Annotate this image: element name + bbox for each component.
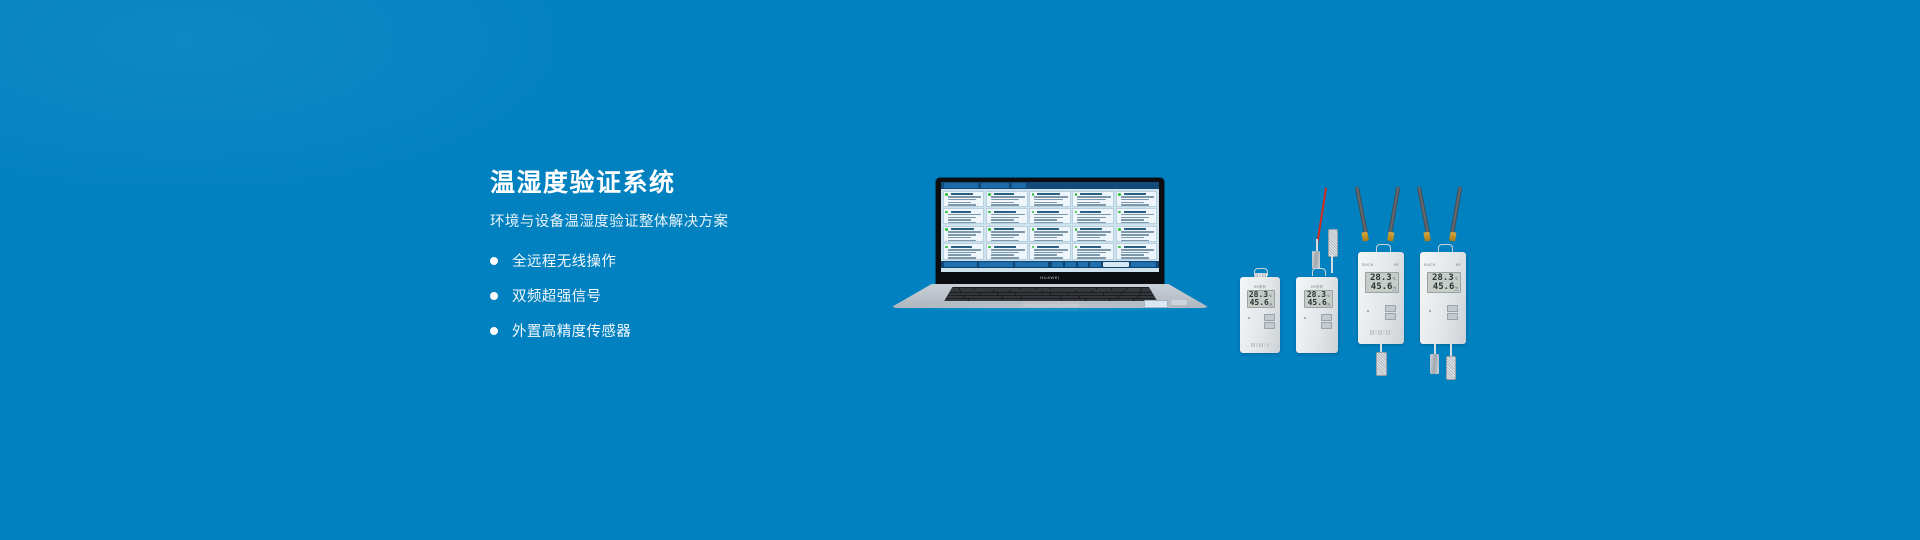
- pager-prev[interactable]: [1065, 262, 1076, 267]
- footer-button-print[interactable]: [1015, 262, 1048, 267]
- indicator-led-icon: [1248, 317, 1250, 319]
- lcd-display: 28.3 ℃ 45.6 %: [1365, 272, 1399, 293]
- lcd-humidity-unit: %: [1393, 286, 1396, 290]
- sensor-card[interactable]: [1029, 191, 1071, 207]
- status-led-icon: [1075, 228, 1078, 231]
- keyboard-row: [945, 290, 1157, 292]
- feature-item-2: 双频超强信号: [490, 285, 920, 306]
- sensor-card[interactable]: [1072, 226, 1114, 242]
- device-button-down[interactable]: [1447, 313, 1458, 320]
- hero-copy: 温湿度验证系统 环境与设备温湿度验证整体解决方案 全远程无线操作 双频超强信号 …: [490, 168, 920, 355]
- device-button-down[interactable]: [1385, 313, 1396, 320]
- lcd-temperature-unit: ℃: [1392, 277, 1396, 281]
- status-led-icon: [988, 246, 991, 249]
- sensor-card[interactable]: [986, 191, 1028, 207]
- probe-connector: [1312, 251, 1320, 269]
- keyboard-row: [945, 296, 1157, 298]
- indicator-led-icon: [1367, 310, 1369, 312]
- laptop-bezel-bottom: HUAWEI: [941, 272, 1159, 282]
- lcd-humidity-value: 45.6: [1250, 299, 1269, 307]
- device-button-up[interactable]: [1321, 314, 1332, 321]
- sensor-card[interactable]: [1072, 208, 1114, 224]
- keyboard-row: [945, 288, 1157, 290]
- sensor-card[interactable]: [943, 191, 985, 207]
- status-led-icon: [945, 211, 948, 214]
- status-led-icon: [1075, 246, 1078, 249]
- lcd-display: 28.3 ℃ 45.6 %: [1247, 290, 1275, 308]
- dashboard-tab-history[interactable]: [981, 183, 1009, 188]
- status-led-icon: [1118, 211, 1121, 214]
- feature-item-1: 全远程无线操作: [490, 250, 920, 271]
- footer-button-settings[interactable]: [1131, 262, 1156, 267]
- device-label-right: HE: [1394, 263, 1399, 267]
- pager-last[interactable]: [1090, 262, 1101, 267]
- probe-cable-red: [1316, 188, 1327, 246]
- lcd-humidity-unit: %: [1455, 286, 1458, 290]
- lcd-status-icon: [1326, 305, 1331, 307]
- status-led-icon: [1032, 228, 1035, 231]
- antenna-left-connector: [1423, 232, 1431, 242]
- status-led-icon: [1075, 211, 1078, 214]
- hero-banner: 温湿度验证系统 环境与设备温湿度验证整体解决方案 全远程无线操作 双频超强信号 …: [0, 0, 1920, 540]
- feature-label: 全远程无线操作: [512, 250, 616, 271]
- hanger-hook-icon: [1312, 268, 1326, 276]
- sensor-card[interactable]: [1116, 226, 1158, 242]
- status-led-icon: [1032, 193, 1035, 196]
- sensor-vent: [1370, 330, 1390, 335]
- laptop-reflection: [884, 304, 1216, 313]
- feature-label: 双频超强信号: [512, 285, 601, 306]
- lcd-temperature-unit: ℃: [1327, 294, 1330, 298]
- keyboard-row: [945, 293, 1157, 295]
- device-model-label: HE系列: [1240, 284, 1280, 289]
- antenna-right: [1450, 186, 1462, 234]
- device-button-up[interactable]: [1447, 305, 1458, 312]
- device-button-up[interactable]: [1264, 314, 1275, 321]
- laptop-brand-logo: HUAWEI: [1040, 275, 1060, 280]
- sensor-card[interactable]: [1029, 208, 1071, 224]
- footer-button-export[interactable]: [979, 262, 1012, 267]
- device-label-left: EN/CN: [1362, 263, 1373, 267]
- probe-sensor-mesh-right: [1446, 356, 1456, 380]
- status-led-icon: [1118, 193, 1121, 196]
- footer-button-refresh[interactable]: [944, 262, 977, 267]
- device-label-right: HE: [1456, 263, 1461, 267]
- sensor-card[interactable]: [1072, 191, 1114, 207]
- device-button-down[interactable]: [1264, 322, 1275, 329]
- sensor-card[interactable]: [1116, 208, 1158, 224]
- status-led-icon: [945, 193, 948, 196]
- status-led-icon: [1032, 211, 1035, 214]
- lcd-status-icon: [1454, 290, 1459, 292]
- status-led-icon: [1075, 193, 1078, 196]
- device-wireless-logger-basic: HE系列 28.3 ℃ 45.6 %: [1240, 273, 1280, 353]
- sensor-card[interactable]: [943, 208, 985, 224]
- status-led-icon: [945, 246, 948, 249]
- laptop-lid: HUAWEI: [936, 178, 1164, 286]
- bullet-dot-icon: [490, 257, 498, 265]
- dashboard-toolbar: [941, 182, 1159, 189]
- dashboard-tab-realtime[interactable]: [944, 183, 978, 188]
- antenna-right-connector: [1387, 232, 1394, 242]
- antenna-left: [1355, 187, 1368, 235]
- lcd-humidity-value: 45.6: [1433, 283, 1455, 292]
- sensor-card[interactable]: [1029, 226, 1071, 242]
- sensor-vent: [1251, 343, 1269, 347]
- feature-label: 外置高精度传感器: [512, 320, 631, 341]
- device-wireless-logger-probe: HE系列 28.3 ℃ 45.6 %: [1296, 273, 1340, 353]
- antenna-left-connector: [1361, 232, 1369, 242]
- device-dual-band-logger-a: EN/CN HE 28.3 ℃ 45.6 %: [1358, 252, 1406, 362]
- sensor-card[interactable]: [943, 226, 985, 242]
- lcd-display: 28.3 ℃ 45.6 %: [1304, 290, 1333, 308]
- sensor-card-grid: [941, 189, 1159, 261]
- sensor-card[interactable]: [1116, 191, 1158, 207]
- sensor-card[interactable]: [943, 243, 985, 259]
- device-dual-band-logger-b: EN/CN HE 28.3 ℃ 45.6 %: [1420, 252, 1468, 362]
- antenna-right: [1388, 186, 1400, 234]
- status-led-icon: [1032, 246, 1035, 249]
- status-led-icon: [1118, 228, 1121, 231]
- sensor-card[interactable]: [1116, 243, 1158, 259]
- feature-item-3: 外置高精度传感器: [490, 320, 920, 341]
- probe-cable-secondary: [1331, 255, 1333, 273]
- device-label-left: EN/CN: [1424, 263, 1435, 267]
- status-led-icon: [1118, 246, 1121, 249]
- lcd-humidity-value: 45.6: [1371, 283, 1393, 292]
- sensor-card[interactable]: [986, 226, 1028, 242]
- lcd-display: 28.3 ℃ 45.6 %: [1427, 272, 1461, 293]
- indicator-led-icon: [1304, 317, 1306, 319]
- indicator-led-icon: [1429, 310, 1431, 312]
- bullet-dot-icon: [490, 292, 498, 300]
- status-led-icon: [988, 228, 991, 231]
- lcd-humidity-value: 45.6: [1308, 299, 1327, 307]
- lcd-temperature-unit: ℃: [1454, 277, 1458, 281]
- probe-connector-left: [1430, 354, 1439, 374]
- pager-first[interactable]: [1052, 262, 1063, 267]
- lcd-status-icon: [1268, 305, 1273, 307]
- probe-sensor-mesh: [1376, 352, 1387, 376]
- page-subtitle: 环境与设备温湿度验证整体解决方案: [490, 212, 920, 232]
- device-housing: EN/CN HE 28.3 ℃ 45.6 %: [1420, 252, 1466, 344]
- status-led-icon: [945, 228, 948, 231]
- antenna-right-connector: [1449, 232, 1456, 242]
- device-housing: HE系列 28.3 ℃ 45.6 %: [1296, 277, 1338, 353]
- pager-next[interactable]: [1078, 262, 1089, 267]
- bullet-dot-icon: [490, 327, 498, 335]
- device-model-label: HE系列: [1296, 284, 1338, 289]
- device-button-up[interactable]: [1385, 305, 1396, 312]
- pager-input[interactable]: [1103, 262, 1128, 267]
- device-housing: EN/CN HE 28.3 ℃ 45.6 %: [1358, 252, 1404, 344]
- status-led-icon: [988, 193, 991, 196]
- laptop-screen: [941, 182, 1159, 272]
- sensor-card[interactable]: [1072, 243, 1114, 259]
- page-title: 温湿度验证系统: [490, 168, 920, 198]
- laptop-keyboard[interactable]: [944, 287, 1157, 301]
- lcd-status-icon: [1392, 290, 1397, 292]
- dashboard-footer: [941, 261, 1159, 268]
- antenna-left: [1417, 187, 1430, 235]
- device-housing: HE系列 28.3 ℃ 45.6 %: [1240, 277, 1280, 353]
- lcd-temperature-unit: ℃: [1269, 294, 1272, 298]
- laptop-illustration: HUAWEI: [890, 178, 1210, 308]
- sensor-card[interactable]: [986, 243, 1028, 259]
- sensor-card[interactable]: [1029, 243, 1071, 259]
- status-led-icon: [988, 211, 991, 214]
- device-button-down[interactable]: [1321, 322, 1332, 329]
- probe-sensor-mesh: [1328, 229, 1338, 257]
- sensor-card[interactable]: [986, 208, 1028, 224]
- dashboard-tab-alarm[interactable]: [1012, 183, 1026, 188]
